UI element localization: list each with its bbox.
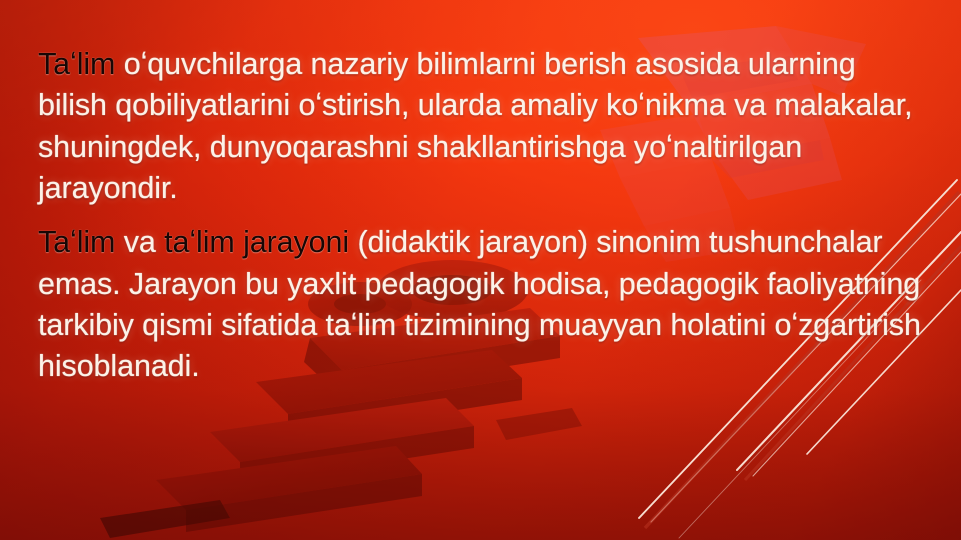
paragraph-2-lead-word-2: taʻlim jarayoni [164, 225, 349, 259]
presentation-slide: Taʻlim oʻquvchilarga nazariy bilimlarni … [0, 0, 961, 540]
paragraph-1-lead-word: Taʻlim [38, 47, 115, 81]
paragraph-1: Taʻlim oʻquvchilarga nazariy bilimlarni … [38, 44, 930, 209]
slide-body-text: Taʻlim oʻquvchilarga nazariy bilimlarni … [38, 44, 930, 388]
paragraph-2-lead-word: Taʻlim [38, 225, 115, 259]
paragraph-2: Taʻlim va taʻlim jarayoni (didaktik jara… [38, 222, 930, 387]
paragraph-2-connector: va [115, 225, 164, 259]
paragraph-1-body: oʻquvchilarga nazariy bilimlarni berish … [38, 47, 912, 205]
